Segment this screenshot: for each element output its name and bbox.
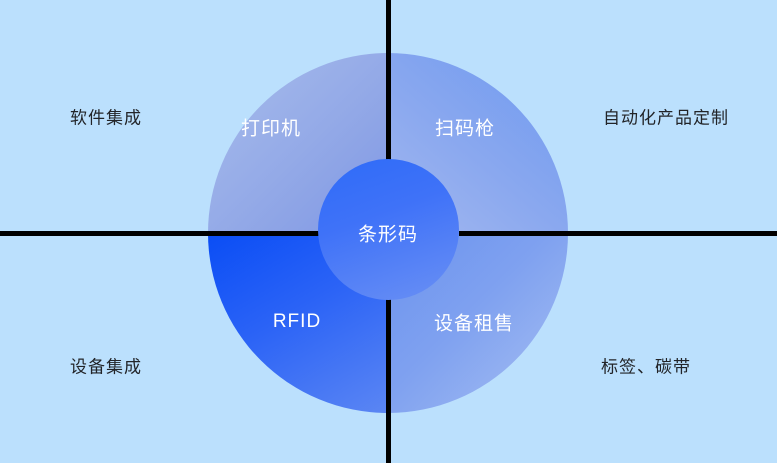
quadrant-label-printer: 打印机 bbox=[241, 114, 301, 141]
quadrant-label-equipment-rental: 设备租售 bbox=[434, 309, 514, 336]
axis-line-vertical-top bbox=[386, 0, 391, 161]
quadrant-label-rfid: RFID bbox=[273, 311, 321, 333]
outer-label-labels-ribbons: 标签、碳带 bbox=[601, 353, 691, 378]
axis-line-horizontal-left bbox=[0, 231, 319, 236]
quadrant-label-scanner: 扫码枪 bbox=[435, 114, 495, 141]
axis-line-horizontal-right bbox=[459, 231, 777, 236]
concentric-quadrant-diagram: 打印机 扫码枪 RFID 设备租售 条形码 软件集成 自动化产品定制 设备集成 … bbox=[0, 0, 777, 463]
outer-label-software-integration: 软件集成 bbox=[70, 104, 142, 129]
core-label-barcode: 条形码 bbox=[358, 220, 418, 247]
outer-label-automation-customization: 自动化产品定制 bbox=[603, 104, 729, 129]
axis-line-vertical-bottom bbox=[386, 298, 391, 463]
outer-label-device-integration: 设备集成 bbox=[70, 353, 142, 378]
